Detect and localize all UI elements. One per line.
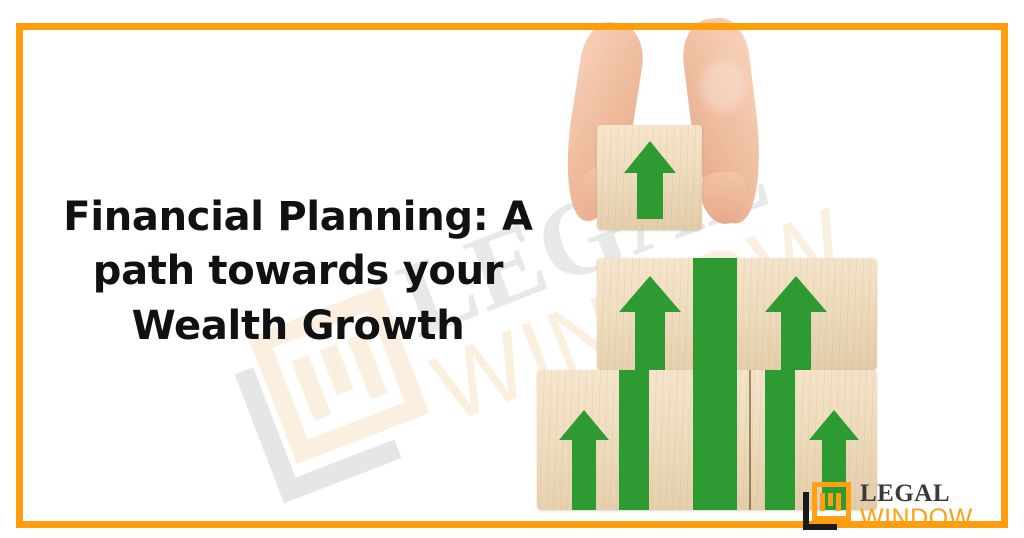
- brand-wordmark: LEGAL WINDOW: [860, 482, 973, 531]
- hero-photo: [505, 40, 885, 485]
- green-arrow-bottom-far-left: [559, 410, 609, 510]
- arrow-shaft: [781, 310, 811, 370]
- arrow-head: [809, 410, 859, 440]
- green-arrow-mid-center: [693, 258, 737, 370]
- green-arrow-mid-right: [765, 276, 827, 370]
- logo-mark-bar-3: [836, 493, 841, 511]
- arrow-head: [619, 276, 681, 312]
- arrow-shaft: [637, 171, 663, 219]
- window-square-logo-icon: [803, 482, 851, 530]
- headline-line-2: path towards your: [48, 244, 548, 298]
- arrow-head: [559, 410, 609, 440]
- green-arrow-mid-left: [619, 276, 681, 370]
- banner-canvas: LEGAL WINDOW: [0, 0, 1024, 538]
- block-seam: [749, 370, 751, 510]
- arrow-head: [624, 141, 676, 173]
- watermark-mark-bar-1: [292, 355, 332, 421]
- green-arrow-top: [623, 141, 676, 219]
- logo-mark-bar-1: [820, 493, 825, 511]
- arrow-shaft: [572, 438, 596, 510]
- finger-highlight: [701, 60, 745, 112]
- brand-window-text: WINDOW: [860, 507, 973, 531]
- arrow-shaft: [635, 310, 665, 370]
- brand-logo[interactable]: LEGAL WINDOW: [803, 482, 973, 531]
- wooden-block-top: [597, 125, 702, 230]
- green-arrow-bottom-center: [693, 370, 737, 510]
- headline-line-3: Wealth Growth: [48, 299, 548, 353]
- green-arrow-bottom-right: [765, 370, 795, 510]
- watermark-mark-l-stem: [235, 367, 303, 503]
- wooden-block-middle: [597, 258, 877, 370]
- logo-mark-bar-2: [828, 493, 833, 506]
- watermark-mark-l-foot: [277, 439, 402, 503]
- arrow-head: [765, 276, 827, 312]
- logo-mark-l-foot: [803, 524, 837, 530]
- headline-line-1: Financial Planning: A: [48, 190, 548, 244]
- page-title: Financial Planning: A path towards your …: [48, 190, 548, 353]
- brand-legal-text: LEGAL: [860, 482, 973, 506]
- green-arrow-bottom-left: [619, 370, 649, 510]
